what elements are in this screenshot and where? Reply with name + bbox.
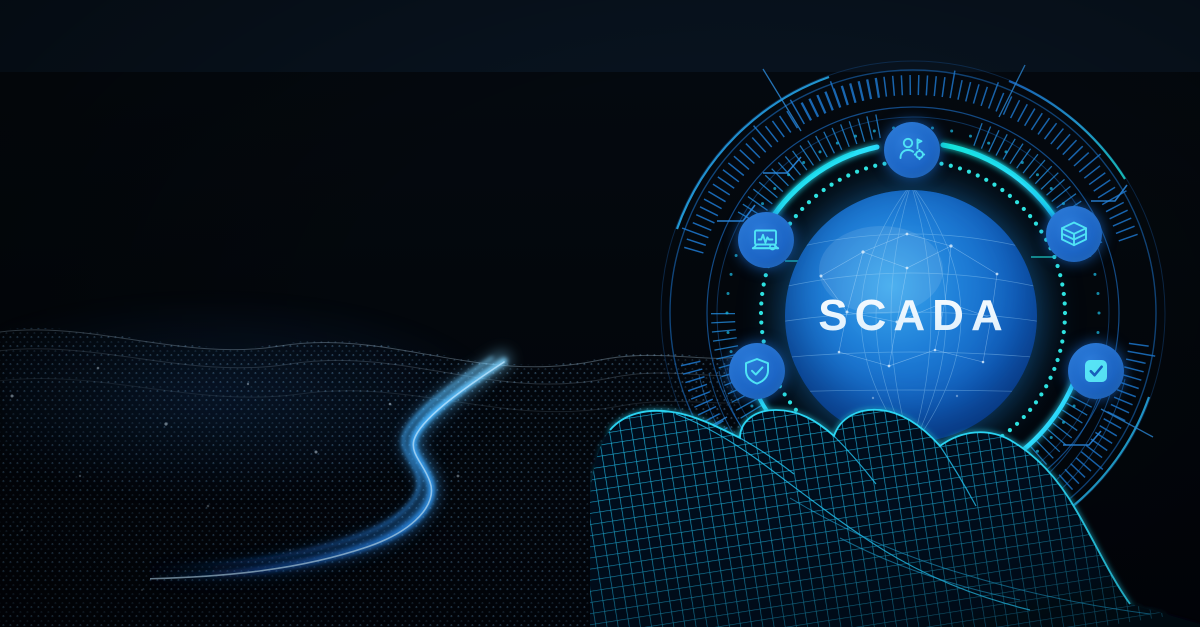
user-settings-icon[interactable] <box>884 122 940 178</box>
monitoring-icon[interactable] <box>738 212 794 268</box>
monitoring-glyph <box>750 224 782 256</box>
light-trail <box>150 330 630 620</box>
data-cube-glyph <box>1058 218 1090 250</box>
scada-essentials-banner: SCADA <box>0 0 1200 627</box>
user-settings-glyph <box>896 134 928 166</box>
wireframe-hand <box>590 378 1200 627</box>
data-cube-icon[interactable] <box>1046 206 1102 262</box>
